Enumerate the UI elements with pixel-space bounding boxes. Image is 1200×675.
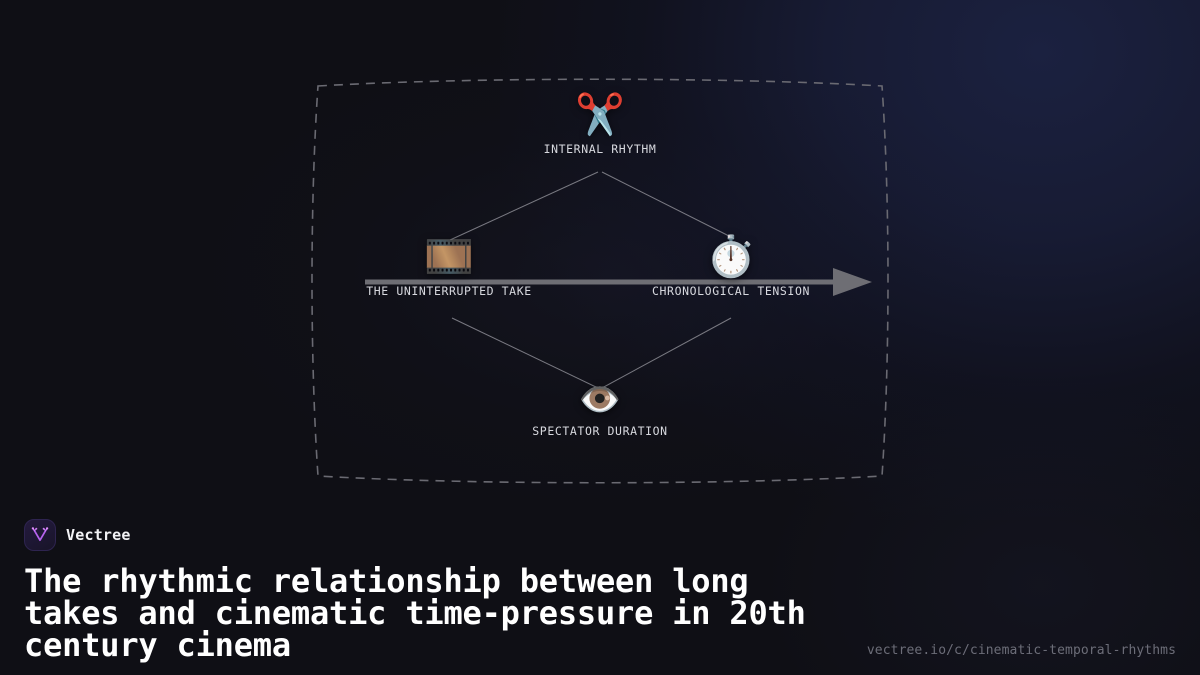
brand[interactable]: Vectree: [24, 519, 1176, 551]
node-label-chronological-tension: CHRONOLOGICAL TENSION: [652, 284, 810, 298]
eye-icon: 👁️: [579, 380, 621, 420]
film-frames-icon: 🎞️: [424, 234, 474, 280]
diagram-canvas: ✂️ INTERNAL RHYTHM 🎞️ THE UNINTERRUPTED …: [0, 0, 1200, 500]
brand-name: Vectree: [66, 526, 131, 544]
connector-tension-to-spectator: [602, 318, 731, 388]
node-internal-rhythm[interactable]: ✂️ INTERNAL RHYTHM: [544, 92, 657, 156]
connector-take-to-spectator: [452, 318, 598, 388]
node-label-spectator-duration: SPECTATOR DURATION: [532, 424, 667, 438]
page-title: The rhythmic relationship between long t…: [24, 565, 854, 661]
node-spectator-duration[interactable]: 👁️ SPECTATOR DURATION: [532, 380, 667, 438]
scissors-icon: ✂️: [575, 92, 625, 138]
node-uninterrupted-take[interactable]: 🎞️ THE UNINTERRUPTED TAKE: [366, 234, 532, 298]
node-chronological-tension[interactable]: ⏱️ CHRONOLOGICAL TENSION: [652, 234, 810, 298]
source-url: vectree.io/c/cinematic-temporal-rhythms: [867, 643, 1176, 658]
footer: Vectree The rhythmic relationship betwee…: [24, 519, 1176, 661]
connector-rhythm-to-tension: [602, 172, 731, 237]
node-label-internal-rhythm: INTERNAL RHYTHM: [544, 142, 657, 156]
stopwatch-icon: ⏱️: [706, 234, 756, 280]
node-label-uninterrupted-take: THE UNINTERRUPTED TAKE: [366, 284, 532, 298]
connector-rhythm-to-take: [450, 172, 598, 240]
vectree-v-logo-icon: [24, 519, 56, 551]
